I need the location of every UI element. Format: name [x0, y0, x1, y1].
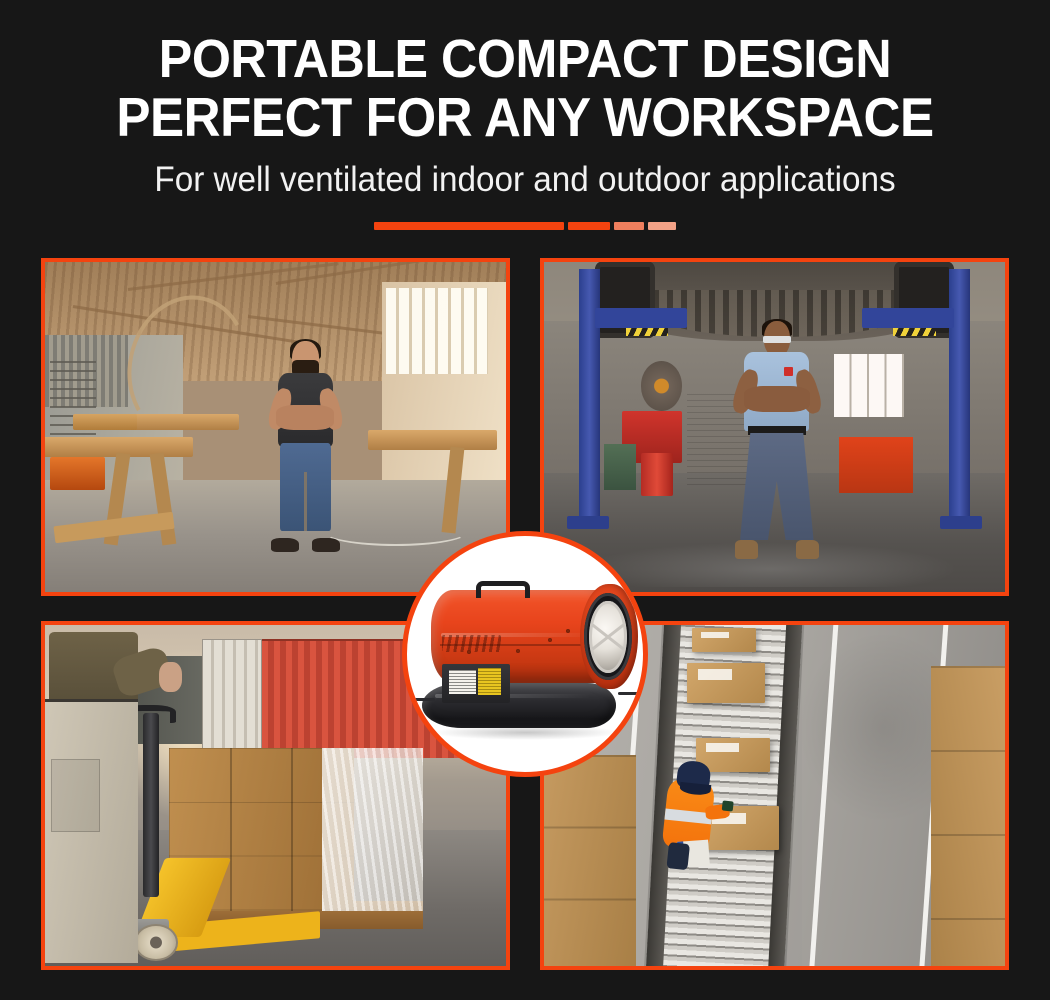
- product-feature-banner: PORTABLE COMPACT DESIGN PERFECT FOR ANY …: [0, 0, 1050, 1000]
- gallery-tile-garage: [540, 258, 1009, 596]
- heater-foot-left: [408, 698, 435, 701]
- green-cabinet: [604, 444, 636, 490]
- garage-window: [834, 354, 903, 417]
- parcel-on-conveyor: [692, 628, 757, 652]
- tool-shelf: [50, 361, 96, 447]
- heater-warning-label: [478, 668, 501, 695]
- carton-stack-left: [544, 755, 636, 966]
- hoist-post-left: [579, 269, 600, 526]
- hoist-arm-left: [595, 308, 687, 328]
- heater-rivet: [467, 650, 471, 654]
- carpenter-crossed-arms: [276, 405, 334, 430]
- divider-segment-small: [614, 222, 644, 230]
- mechanic-crossed-arms: [744, 386, 811, 412]
- mechanic-left-boot: [735, 540, 758, 559]
- container-door-end: [202, 639, 262, 762]
- divider-bar: [0, 222, 1050, 230]
- heater-outlet-grille: [589, 601, 626, 673]
- gallery-tile-workshop: [41, 258, 510, 596]
- headline-line-1: PORTABLE COMPACT DESIGN: [37, 30, 1014, 88]
- worker-hand: [159, 662, 182, 692]
- carpenter-figure: [264, 341, 347, 552]
- carton-stack-right: [931, 666, 1005, 966]
- forced-air-diesel-heater: [417, 584, 643, 734]
- red-drum: [641, 453, 673, 496]
- workbench-right: [368, 430, 497, 450]
- safety-glasses: [763, 336, 791, 343]
- divider-segment-tiny: [648, 222, 676, 230]
- mechanic-trousers: [740, 433, 814, 540]
- wall-mounted-fan: [641, 361, 682, 411]
- heater-spec-label: [449, 670, 476, 694]
- headline-line-2: PERFECT FOR ANY WORKSPACE: [37, 88, 1014, 146]
- dock-worker-figure: [45, 632, 146, 966]
- hoist-base-right: [940, 516, 981, 529]
- worker-cargo-pocket: [51, 759, 100, 833]
- pallet-jack: [128, 833, 312, 956]
- garage-photo: [544, 262, 1005, 592]
- divider-segment-medium: [568, 222, 610, 230]
- hoist-base-left: [567, 516, 608, 529]
- mechanic-right-boot: [796, 540, 819, 559]
- carpenter-leg-gap: [304, 472, 307, 531]
- warehouse-worker-figure: [654, 759, 725, 874]
- table-saw: [50, 457, 105, 490]
- subheadline: For well ventilated indoor and outdoor a…: [26, 158, 1024, 202]
- heater-foot-right: [618, 692, 645, 695]
- banner-header: PORTABLE COMPACT DESIGN PERFECT FOR ANY …: [0, 0, 1050, 250]
- hoist-post-right: [949, 269, 970, 526]
- title-block: PORTABLE COMPACT DESIGN PERFECT FOR ANY …: [0, 0, 1050, 230]
- worker-legs: [667, 842, 690, 870]
- heater-brand-decal: [442, 635, 501, 652]
- shirt-name-patch: [784, 367, 793, 377]
- heater-carry-handle: [476, 581, 530, 598]
- carpenter-left-boot: [271, 538, 299, 553]
- clerestory-windows: [386, 288, 487, 374]
- parcel-on-conveyor: [687, 663, 765, 704]
- divider-segment-long: [374, 222, 564, 230]
- workshop-photo: [45, 262, 506, 592]
- carpenter-right-boot: [312, 538, 340, 553]
- hoist-arm-right: [862, 308, 954, 328]
- mechanic-figure: [733, 321, 821, 559]
- red-tool-trolley: [839, 437, 913, 493]
- product-spotlight-circle: [402, 531, 648, 777]
- shrink-wrap: [322, 748, 423, 912]
- timber-stack: [73, 414, 138, 431]
- barcode-scanner: [722, 801, 734, 812]
